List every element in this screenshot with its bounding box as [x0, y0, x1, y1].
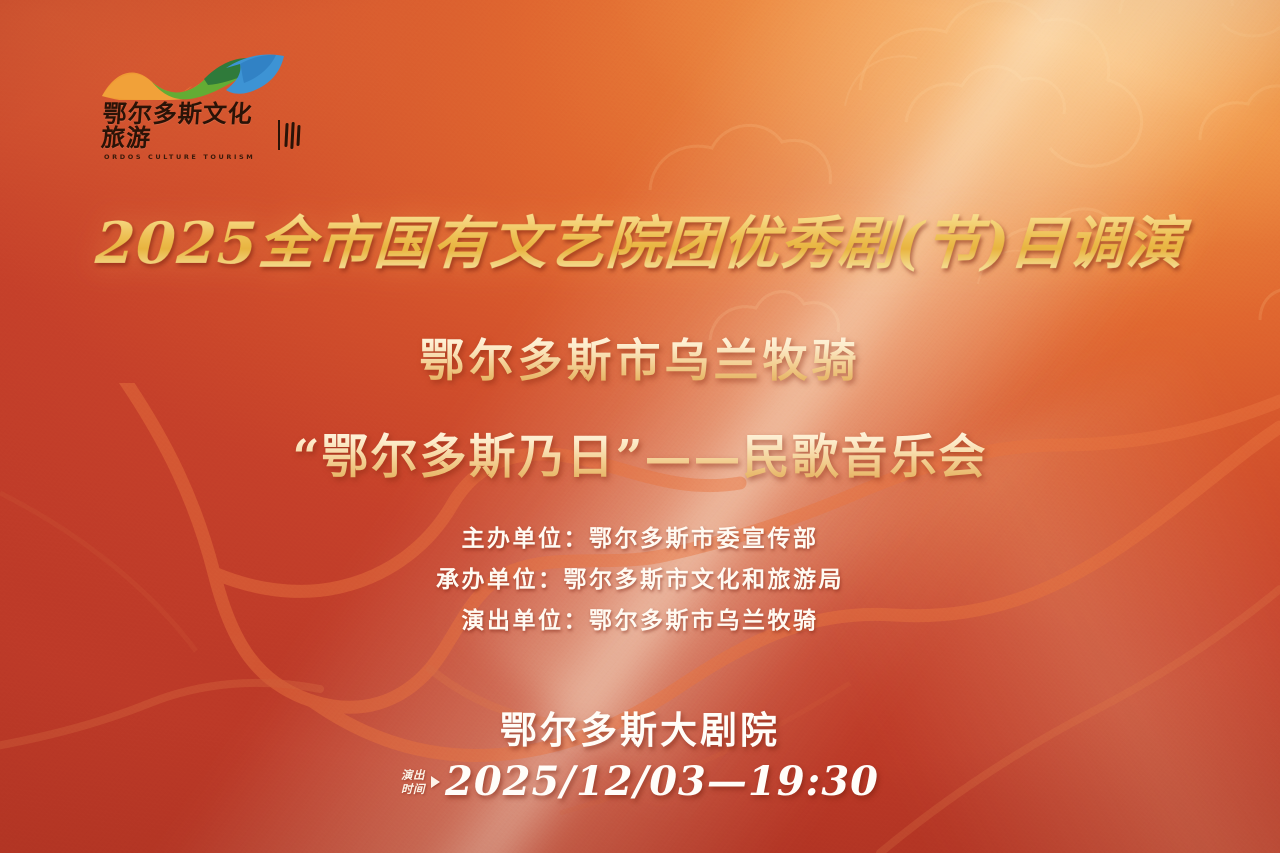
logo-text-group: 鄂尔多斯文化旅游	[102, 102, 300, 150]
poster-main-title: 2025全市国有文艺院团优秀剧(节)目调演	[0, 198, 1280, 280]
performance-time-label: 演出 时间	[401, 769, 425, 795]
performance-datetime-value: 2025/12/03—19:30	[445, 758, 879, 805]
logo-wave-icon	[100, 52, 286, 100]
event-poster: 鄂尔多斯文化旅游 ORDOS CULTURE TOURISM 2025全市国有文…	[0, 0, 1280, 853]
logo-english-name: ORDOS CULTURE TOURISM	[104, 153, 300, 161]
venue-name: 鄂尔多斯大剧院	[0, 700, 1280, 754]
organizer-host: 主办单位：鄂尔多斯市委宣传部	[0, 527, 1280, 550]
poster-content: 鄂尔多斯文化旅游 ORDOS CULTURE TOURISM 2025全市国有文…	[0, 0, 1280, 853]
organizer-list: 主办单位：鄂尔多斯市委宣传部 承办单位：鄂尔多斯市文化和旅游局 演出单位：鄂尔多…	[0, 527, 1280, 650]
performance-datetime-row: 演出 时间 2025/12/03—19:30	[0, 758, 1280, 805]
logo-mongolian-script-icon	[278, 120, 300, 150]
organizer-organizer: 承办单位：鄂尔多斯市文化和旅游局	[0, 568, 1280, 591]
logo-chinese-name: 鄂尔多斯文化旅游	[100, 102, 274, 150]
ordos-culture-tourism-logo[interactable]: 鄂尔多斯文化旅游 ORDOS CULTURE TOURISM	[100, 52, 300, 147]
caret-right-icon	[431, 776, 440, 788]
organizer-performer: 演出单位：鄂尔多斯市乌兰牧骑	[0, 609, 1280, 632]
performance-time-label-line2: 时间	[401, 783, 425, 796]
poster-subtitle-program: “鄂尔多斯乃日”——民歌音乐会	[0, 418, 1280, 487]
performance-time-label-line1: 演出	[401, 769, 425, 782]
poster-subtitle-troupe: 鄂尔多斯市乌兰牧骑	[0, 324, 1280, 389]
